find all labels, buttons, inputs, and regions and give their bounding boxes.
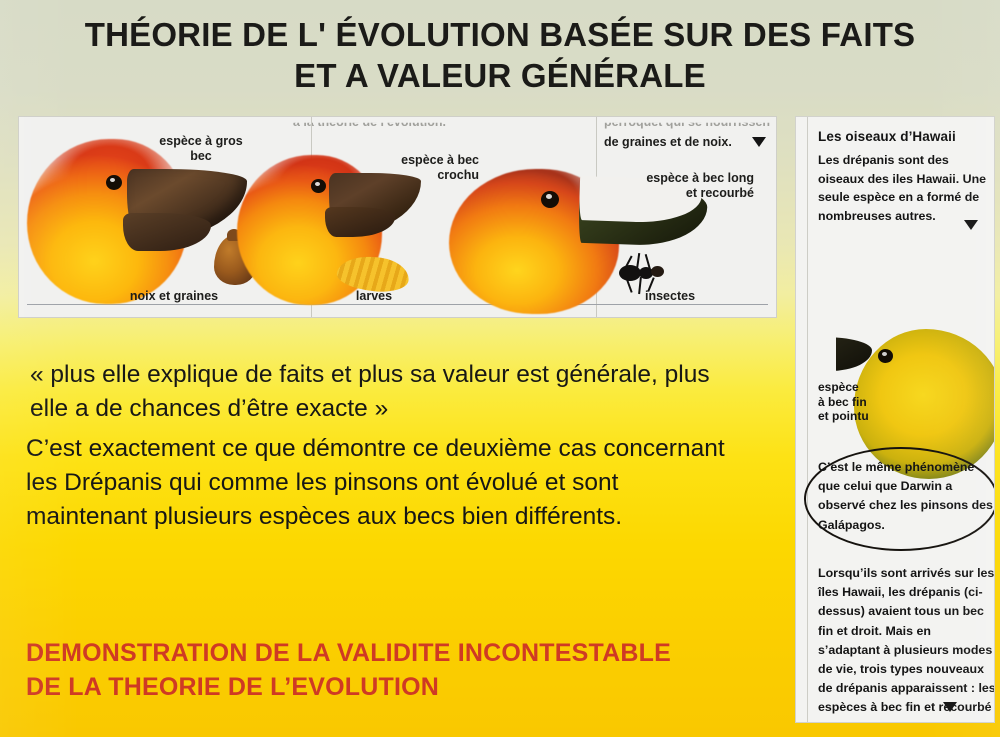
panel-bird-eye-highlight — [882, 352, 887, 356]
title-line-1: THÉORIE DE L' ÉVOLUTION BASÉE SUR DES FA… — [85, 16, 916, 53]
label-species-large-beak: espèce à gros bec — [131, 134, 271, 164]
panel-heading: Les oiseaux d’Hawaii — [818, 129, 956, 144]
panel-caption-fine-beak: espèce à bec fin et pointu — [818, 380, 869, 424]
triangle-down-icon-strip — [752, 137, 766, 147]
clipped-caption-right-line2: de graines et de noix. — [604, 135, 732, 150]
label-food-nuts-seeds: noix et graines — [84, 289, 264, 304]
bird2-eye-highlight — [315, 182, 320, 186]
clipped-caption-right: perroquet qui se nourrissen — [604, 117, 770, 129]
label-food-insects: insectes — [615, 289, 725, 304]
panel-bird-eye — [878, 349, 893, 363]
ant-head — [651, 266, 664, 277]
strip-bottom-rule — [27, 304, 768, 305]
panel-gutter-rule — [807, 117, 808, 722]
explanation-paragraph: C’est exactement ce que démontre ce deux… — [26, 432, 726, 534]
bird1-beak-lower — [123, 213, 211, 251]
panel-body-text: Lorsqu’ils sont arrivés sur les îles Haw… — [818, 564, 995, 723]
bird1-eye-highlight — [110, 178, 115, 182]
panel-circled-text: C’est le même phénomène que celui que Da… — [818, 458, 995, 535]
label-species-hooked-beak: espèce à bec crochu — [349, 153, 479, 183]
quote-text: « plus elle explique de faits et plus sa… — [30, 358, 750, 426]
bird2-beak-lower — [325, 207, 395, 237]
triangle-down-icon-panel-bottom — [943, 702, 957, 712]
conclusion-text: DEMONSTRATION DE LA VALIDITE INCONTESTAB… — [26, 636, 766, 704]
bird1-eye — [106, 175, 122, 190]
slide-canvas: THÉORIE DE L' ÉVOLUTION BASÉE SUR DES FA… — [0, 0, 1000, 737]
triangle-down-icon-panel-top — [964, 220, 978, 230]
page-title: THÉORIE DE L' ÉVOLUTION BASÉE SUR DES FA… — [0, 14, 1000, 96]
panel-intro-text: Les drépanis sont des oiseaux des iles H… — [818, 151, 990, 225]
figure-strip-birds: à la théorie de l'évolution. perroquet q… — [18, 116, 777, 318]
label-species-long-beak: espèce à bec long et recourbé — [599, 171, 754, 201]
label-food-larvae: larves — [319, 289, 429, 304]
title-line-2: ET A VALEUR GÉNÉRALE — [0, 55, 1000, 96]
hawaii-info-panel: Les oiseaux d’Hawaii Les drépanis sont d… — [795, 116, 995, 723]
conclusion-line-1: DEMONSTRATION DE LA VALIDITE INCONTESTAB… — [26, 639, 671, 667]
panel-bird-head — [854, 329, 995, 479]
bird2-eye — [311, 179, 326, 193]
conclusion-line-2: DE LA THEORIE DE L’EVOLUTION — [26, 670, 766, 704]
bird3-eye-highlight — [546, 194, 552, 199]
clipped-caption-left: à la théorie de l'évolution. — [293, 117, 446, 129]
